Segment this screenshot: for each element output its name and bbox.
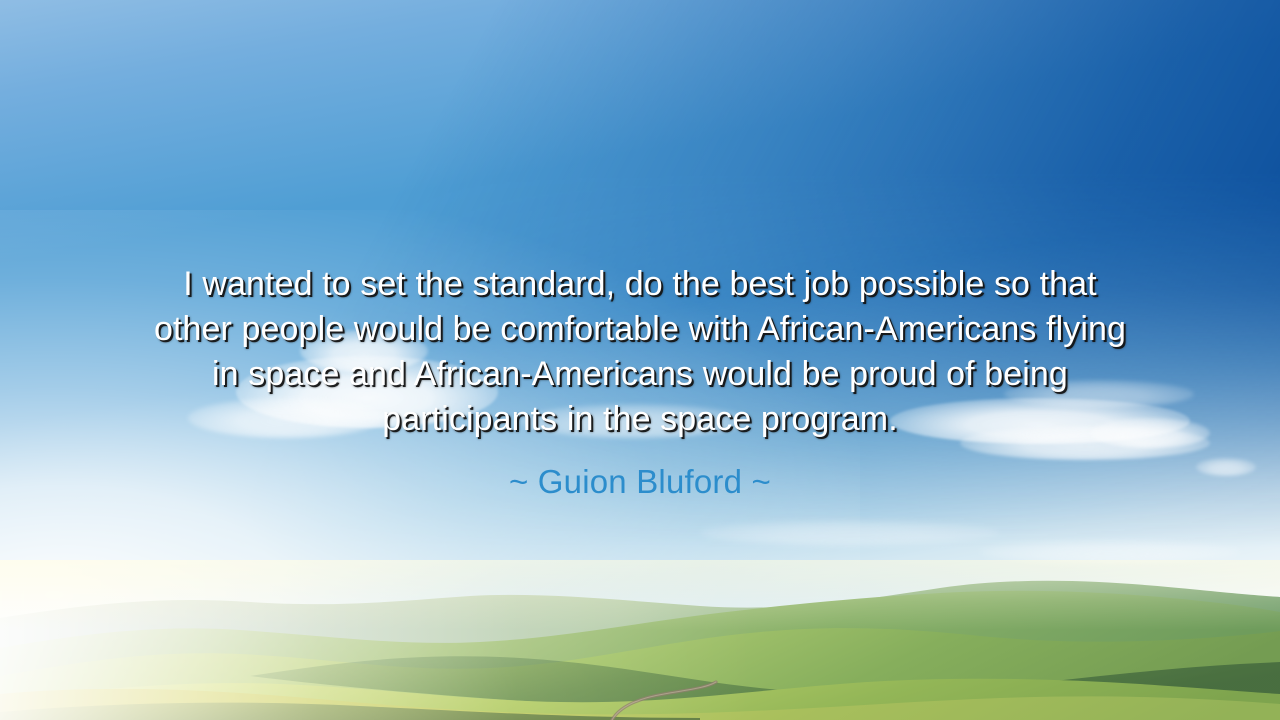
quote-text: I wanted to set the standard, do the bes… <box>80 262 1200 442</box>
quote-author: ~ Guion Bluford ~ <box>80 461 1200 503</box>
quote-block: I wanted to set the standard, do the bes… <box>80 262 1200 503</box>
quote-image: I wanted to set the standard, do the bes… <box>0 0 1280 720</box>
horizon-sun-glow <box>0 560 1280 630</box>
